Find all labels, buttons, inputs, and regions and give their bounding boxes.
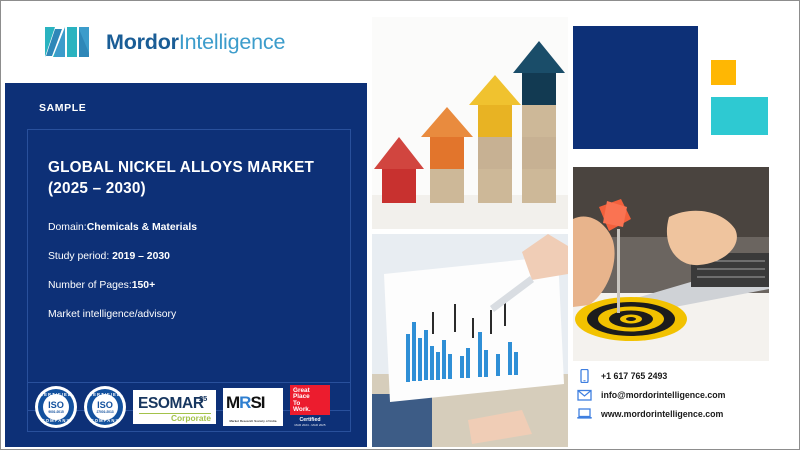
photo-wooden-block-houses (372, 17, 568, 229)
meta-domain: Domain:Chemicals & Materials (48, 222, 197, 233)
iso-badge-standard: 9001:2015 (48, 410, 63, 414)
contact-website-text: www.mordorintelligence.com (601, 409, 723, 419)
iso-badge-word-2: ISO (97, 401, 113, 410)
iso-certified-company-badge: CERTIFIED COMPANY ISO 9001:2015 (35, 386, 77, 428)
iso-badge-core-2: ISO 27001:2013 (92, 394, 118, 420)
contact-row-email[interactable]: info@mordorintelligence.com (575, 386, 795, 403)
contact-row-phone[interactable]: +1 617 765 2493 (575, 367, 795, 384)
contact-phone-text: +1 617 765 2493 (601, 371, 667, 381)
laptop-icon (575, 407, 593, 421)
iso-badge-standard-2: 27001:2013 (96, 410, 113, 414)
contact-list: +1 617 765 2493 info@mordorintelligence.… (575, 367, 795, 424)
photo-hand-holding-chart-report (372, 234, 568, 447)
contact-email-text: info@mordorintelligence.com (601, 390, 725, 400)
decorative-block-navy (573, 26, 698, 149)
dart-target-laptop-illustration (573, 167, 769, 361)
mrsi-badge: MRSI Market Research Society of India (223, 388, 283, 426)
page-title: GLOBAL NICKEL ALLOYS MARKET (2025 – 2030… (48, 157, 338, 199)
meta-service-line: Market intelligence/advisory (48, 309, 176, 320)
decorative-block-cyan (711, 97, 768, 135)
brand-name-bold: Mordor (106, 30, 179, 54)
esomar-badge-superscript: 25 (199, 394, 207, 403)
esomar-badge: ESOMAR 25 Corporate (133, 390, 216, 424)
iso-badge-word: ISO (48, 401, 64, 410)
chart-report-illustration (372, 234, 568, 447)
wooden-block-houses-illustration (372, 17, 568, 229)
esomar-badge-subtitle: Corporate (171, 413, 211, 423)
meta-page-count-value: 150+ (132, 280, 155, 291)
brand-logo[interactable]: MordorIntelligence (45, 27, 285, 57)
mrsi-letters-si: SI (250, 393, 264, 412)
meta-page-count-label: Number of Pages: (48, 280, 132, 291)
email-icon (575, 388, 593, 402)
phone-icon (575, 369, 593, 383)
gptw-line-4: Work. (293, 407, 330, 414)
meta-study-period-label: Study period: (48, 251, 109, 262)
sample-badge: SAMPLE (39, 102, 86, 114)
mrsi-letter-r: R (239, 393, 250, 412)
meta-page-count: Number of Pages:150+ (48, 280, 155, 291)
meta-domain-value: Chemicals & Materials (87, 222, 197, 233)
meta-study-period: Study period: 2019 – 2030 (48, 251, 170, 262)
mordor-m-logo-icon (45, 27, 93, 57)
meta-study-period-value: 2019 – 2030 (112, 251, 170, 262)
iso-badge-core: ISO 9001:2015 (43, 394, 69, 420)
meta-domain-label: Domain: (48, 222, 87, 233)
iso-certified-company-badge-2: CERTIFIED COMPANY ISO 27001:2013 (84, 386, 126, 428)
esomar-badge-name: ESOMAR (138, 395, 204, 413)
mrsi-letter-m: M (226, 393, 239, 412)
photo-dart-and-target-board (573, 167, 769, 361)
gptw-badge-headline: Great Place To Work. (290, 385, 330, 415)
brand-logo-text: MordorIntelligence (106, 30, 285, 55)
mrsi-badge-wordmark: MRSI (226, 393, 265, 413)
gptw-certified-dates: MAR 2024 - MAR 2025 (294, 423, 325, 427)
gptw-badge-certified: Certified MAR 2024 - MAR 2025 (290, 415, 330, 430)
certification-badge-strip: CERTIFIED COMPANY ISO 9001:2015 CERTIFIE… (27, 382, 351, 432)
report-cover-page: MordorIntelligence SAMPLE GLOBAL NICKEL … (0, 0, 800, 450)
mrsi-badge-subtitle: Market Research Society of India (225, 419, 281, 423)
brand-name-light: Intelligence (179, 30, 285, 54)
contact-row-website[interactable]: www.mordorintelligence.com (575, 405, 795, 422)
report-info-panel: SAMPLE GLOBAL NICKEL ALLOYS MARKET (2025… (5, 83, 367, 447)
decorative-block-orange (711, 60, 736, 85)
great-place-to-work-badge: Great Place To Work. Certified MAR 2024 … (290, 385, 330, 430)
report-details-box: GLOBAL NICKEL ALLOYS MARKET (2025 – 2030… (27, 129, 351, 411)
